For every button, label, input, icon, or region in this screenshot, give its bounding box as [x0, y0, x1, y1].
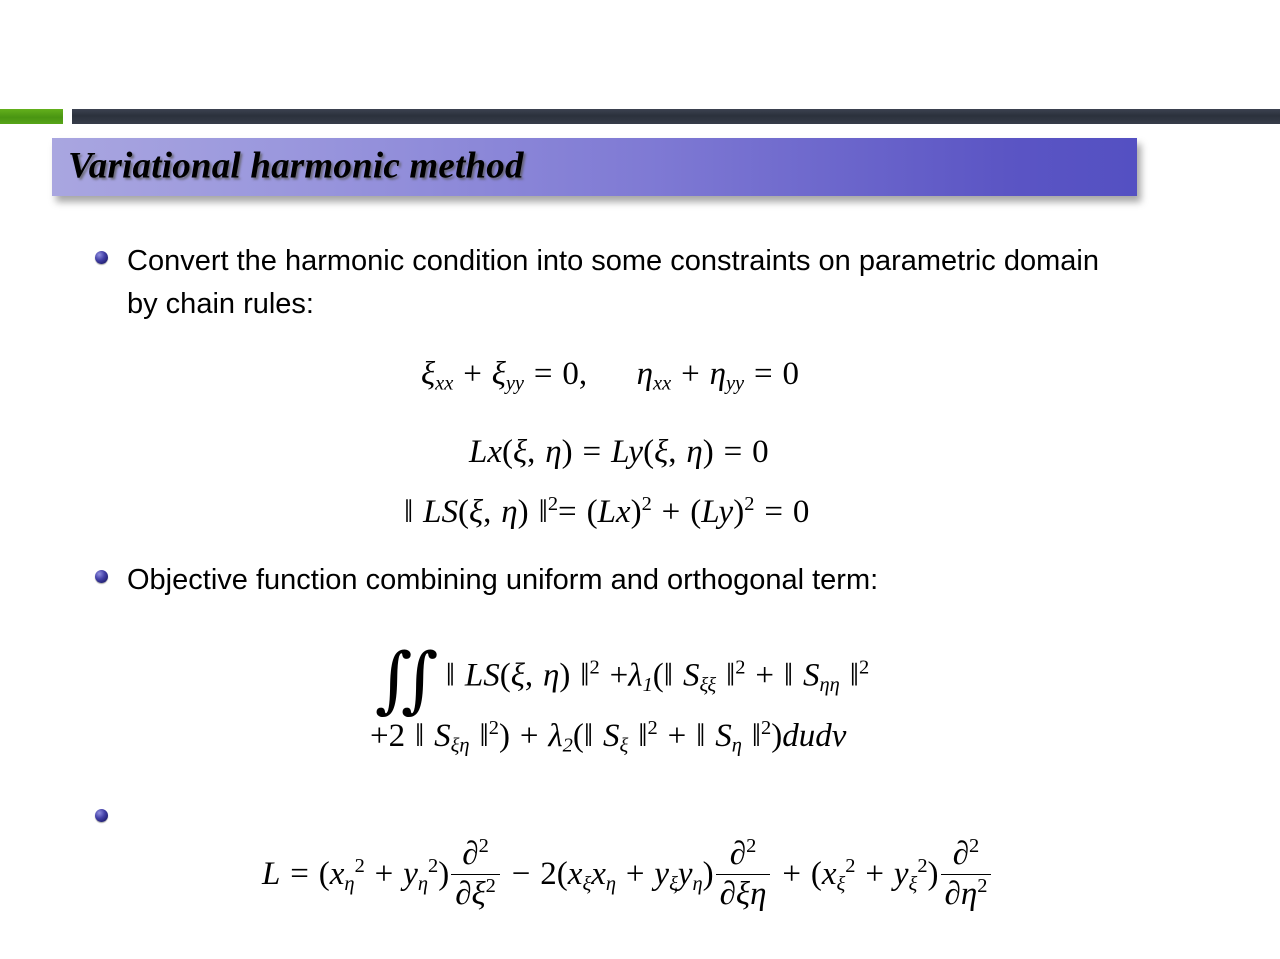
page-title: Variational harmonic method [68, 145, 524, 188]
bullet-dot-icon [95, 251, 108, 264]
bullet-dot-icon [95, 570, 108, 583]
bullet-item-3 [95, 798, 1105, 822]
partial-derivative-xi-eta: ∂2∂ξη [716, 836, 771, 913]
equation-norm-LS-squared: ‖LS(ξ,η)‖2=(Lx)2+(Ly)2=0 [404, 494, 809, 531]
bullet-item-2: Objective function combining uniform and… [95, 559, 1105, 602]
partial-derivative-eta2: ∂2∂η2 [941, 836, 992, 913]
bullet-text-1: Convert the harmonic condition into some… [127, 240, 1105, 326]
double-integral-icon: ∫∫ [375, 637, 427, 721]
bullet-item-1: Convert the harmonic condition into some… [95, 240, 1105, 326]
equation-objective-line1: ∫∫‖LS(ξ,η)‖2+λ1(‖Sξξ‖2+‖Sηη‖2 [375, 637, 869, 721]
accent-bar-green [0, 109, 63, 124]
equation-objective-line2: +2‖Sξη‖2)+λ2(‖Sξ‖2+‖Sη‖2)dudv [370, 718, 846, 755]
accent-bar-dark [72, 109, 1280, 124]
partial-derivative-xi2: ∂2∂ξ2 [451, 836, 500, 913]
bullet-dot-icon [95, 809, 108, 822]
slide-title-plate: Variational harmonic method [52, 138, 1137, 196]
equation-Lx-Ly: Lx(ξ,η)=Ly(ξ,η)=0 [469, 434, 769, 471]
bullet-text-2: Objective function combining uniform and… [127, 559, 878, 602]
equation-operator-L: L=(xη2+yη2)∂2∂ξ2−2(xξxη+yξyη)∂2∂ξη+(xξ2+… [262, 838, 993, 915]
equation-harmonic-conditions: ξxx+ξyy=0,ηxx+ηyy=0 [421, 356, 799, 393]
